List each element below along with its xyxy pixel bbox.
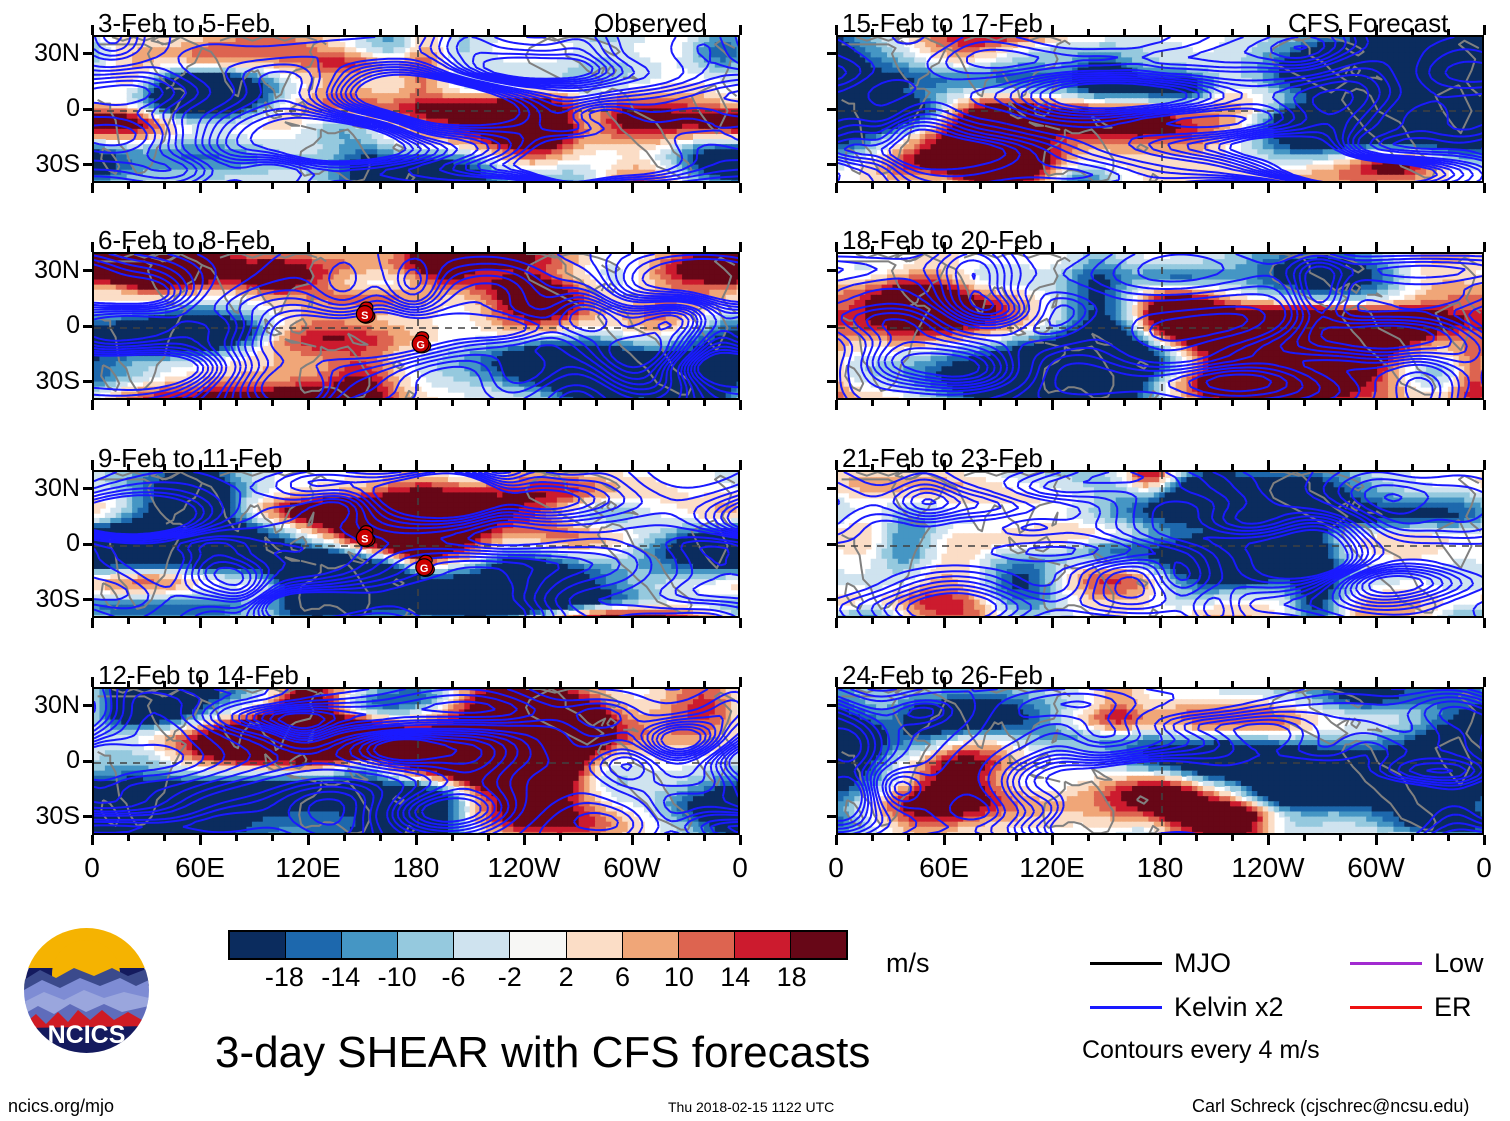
x-tick-mark xyxy=(667,400,670,406)
x-tick-mark xyxy=(979,618,982,624)
x-tick-mark xyxy=(1051,242,1054,252)
x-tick-mark xyxy=(1195,183,1198,189)
x-tick-mark xyxy=(1483,618,1486,628)
x-tick-mark xyxy=(979,835,982,841)
colorbar-swatch-3 xyxy=(398,932,454,958)
y-tick-mark xyxy=(827,163,838,166)
map-panel-fcst-4[interactable] xyxy=(836,687,1484,835)
x-tick-mark xyxy=(1339,400,1342,406)
x-tick-mark xyxy=(1195,29,1198,35)
colorbar-unit-label: m/s xyxy=(886,948,930,979)
y-tick-mark xyxy=(827,108,838,111)
x-tick-mark xyxy=(163,618,166,624)
x-tick-mark xyxy=(703,835,706,841)
y-tick-mark xyxy=(83,52,94,55)
y-tick-label-obs-4-1: 0 xyxy=(0,746,80,775)
x-tick-mark xyxy=(595,835,598,841)
x-tick-mark xyxy=(667,29,670,35)
x-tick-mark xyxy=(343,29,346,35)
x-tick-mark xyxy=(667,618,670,624)
x-tick-mark xyxy=(1447,681,1450,687)
x-tick-mark xyxy=(451,29,454,35)
x-tick-mark xyxy=(739,25,742,35)
x-tick-mark xyxy=(343,400,346,406)
x-tick-mark xyxy=(91,460,94,470)
x-axis-label-col1-0: 0 xyxy=(781,852,891,884)
map-panel-obs-3[interactable]: SG xyxy=(92,470,740,618)
x-tick-mark xyxy=(595,29,598,35)
x-tick-mark xyxy=(559,681,562,687)
x-tick-mark xyxy=(739,835,742,845)
x-tick-mark xyxy=(703,29,706,35)
x-tick-mark xyxy=(1411,835,1414,841)
x-tick-mark xyxy=(1195,246,1198,252)
x-tick-mark xyxy=(1087,183,1090,189)
x-tick-mark xyxy=(1411,246,1414,252)
y-tick-mark xyxy=(827,543,838,546)
x-tick-mark xyxy=(343,183,346,189)
y-tick-mark xyxy=(83,760,94,763)
x-tick-mark xyxy=(943,618,946,628)
x-tick-mark xyxy=(943,460,946,470)
x-tick-mark xyxy=(979,183,982,189)
map-panel-fcst-1[interactable] xyxy=(836,35,1484,183)
x-tick-mark xyxy=(667,183,670,189)
x-tick-mark xyxy=(415,242,418,252)
x-tick-mark xyxy=(1375,835,1378,845)
y-tick-mark xyxy=(83,108,94,111)
x-tick-mark xyxy=(1231,400,1234,406)
x-tick-mark xyxy=(271,29,274,35)
x-tick-mark xyxy=(1159,618,1162,628)
y-tick-mark xyxy=(827,487,838,490)
footer-left[interactable]: ncics.org/mjo xyxy=(8,1096,114,1117)
x-tick-mark xyxy=(739,460,742,470)
x-tick-mark xyxy=(1015,681,1018,687)
colorbar-swatch-9 xyxy=(735,932,791,958)
y-tick-mark xyxy=(827,815,838,818)
x-axis-label-col1-2: 120E xyxy=(997,852,1107,884)
x-tick-mark xyxy=(1303,183,1306,189)
x-tick-mark xyxy=(835,618,838,628)
x-tick-mark xyxy=(235,835,238,841)
x-tick-mark xyxy=(559,618,562,624)
x-tick-mark xyxy=(943,242,946,252)
x-tick-mark xyxy=(307,25,310,35)
x-tick-mark xyxy=(1447,618,1450,624)
x-tick-mark xyxy=(979,29,982,35)
x-tick-mark xyxy=(523,460,526,470)
x-tick-mark xyxy=(1267,677,1270,687)
x-tick-mark xyxy=(1051,677,1054,687)
x-tick-mark xyxy=(1375,242,1378,252)
y-tick-mark xyxy=(83,269,94,272)
x-tick-mark xyxy=(667,464,670,470)
x-tick-mark xyxy=(379,246,382,252)
x-tick-mark xyxy=(559,400,562,406)
legend-contour-note: Contours every 4 m/s xyxy=(1082,1036,1320,1065)
x-tick-mark xyxy=(907,618,910,624)
x-tick-mark xyxy=(1159,242,1162,252)
x-tick-mark xyxy=(451,464,454,470)
x-tick-mark xyxy=(631,618,634,628)
x-tick-mark xyxy=(1483,460,1486,470)
x-tick-mark xyxy=(1159,460,1162,470)
x-tick-mark xyxy=(379,29,382,35)
y-tick-label-obs-3-0: 30N xyxy=(0,474,80,503)
x-tick-mark xyxy=(703,618,706,624)
x-tick-mark xyxy=(979,681,982,687)
x-tick-mark xyxy=(1483,400,1486,410)
x-tick-mark xyxy=(1447,246,1450,252)
x-tick-mark xyxy=(163,464,166,470)
colorbar-swatch-5 xyxy=(510,932,566,958)
x-tick-mark xyxy=(127,618,130,624)
x-tick-mark xyxy=(235,681,238,687)
x-tick-mark xyxy=(199,400,202,410)
y-tick-label-obs-2-0: 30N xyxy=(0,256,80,285)
x-tick-mark xyxy=(1051,25,1054,35)
x-tick-mark xyxy=(91,242,94,252)
x-tick-mark xyxy=(1087,835,1090,841)
x-tick-mark xyxy=(307,183,310,193)
x-axis-label-col1-5: 60W xyxy=(1321,852,1431,884)
x-tick-mark xyxy=(1339,464,1342,470)
x-tick-mark xyxy=(379,618,382,624)
x-tick-mark xyxy=(523,242,526,252)
x-tick-mark xyxy=(235,400,238,406)
x-tick-mark xyxy=(1015,29,1018,35)
x-tick-mark xyxy=(91,400,94,410)
legend-label-kelvin-x2: Kelvin x2 xyxy=(1174,992,1284,1023)
x-tick-mark xyxy=(163,29,166,35)
x-tick-mark xyxy=(871,618,874,624)
x-tick-mark xyxy=(595,618,598,624)
legend-line-er xyxy=(1350,1006,1422,1009)
x-tick-mark xyxy=(127,183,130,189)
x-tick-mark xyxy=(1303,681,1306,687)
x-tick-mark xyxy=(1087,464,1090,470)
x-tick-mark xyxy=(1195,400,1198,406)
x-tick-mark xyxy=(379,183,382,189)
x-tick-mark xyxy=(307,242,310,252)
x-tick-mark xyxy=(271,618,274,624)
x-tick-mark xyxy=(1267,242,1270,252)
x-tick-mark xyxy=(523,677,526,687)
map-panel-obs-1[interactable] xyxy=(92,35,740,183)
x-tick-mark xyxy=(127,400,130,406)
x-tick-mark xyxy=(523,183,526,193)
x-tick-mark xyxy=(91,835,94,845)
x-tick-mark xyxy=(415,400,418,410)
x-tick-mark xyxy=(1195,618,1198,624)
y-tick-mark xyxy=(83,380,94,383)
x-tick-mark xyxy=(943,677,946,687)
x-tick-mark xyxy=(1447,464,1450,470)
x-tick-mark xyxy=(907,464,910,470)
x-tick-mark xyxy=(523,400,526,410)
x-tick-mark xyxy=(235,464,238,470)
x-tick-mark xyxy=(559,183,562,189)
x-tick-mark xyxy=(739,183,742,193)
x-tick-mark xyxy=(343,246,346,252)
x-tick-mark xyxy=(907,29,910,35)
x-tick-mark xyxy=(1123,618,1126,624)
x-tick-mark xyxy=(343,464,346,470)
x-tick-mark xyxy=(1087,400,1090,406)
x-tick-mark xyxy=(1231,835,1234,841)
y-tick-mark xyxy=(827,380,838,383)
x-tick-mark xyxy=(1447,835,1450,841)
x-tick-mark xyxy=(595,681,598,687)
x-tick-mark xyxy=(631,460,634,470)
x-tick-mark xyxy=(739,618,742,628)
x-tick-mark xyxy=(235,246,238,252)
x-tick-mark xyxy=(703,183,706,189)
colorbar-swatch-2 xyxy=(342,932,398,958)
x-tick-mark xyxy=(703,681,706,687)
x-tick-mark xyxy=(451,681,454,687)
x-tick-mark xyxy=(415,618,418,628)
x-tick-mark xyxy=(1447,29,1450,35)
x-tick-mark xyxy=(1231,246,1234,252)
x-tick-mark xyxy=(271,183,274,189)
x-axis-label-col0-6: 0 xyxy=(685,852,795,884)
x-tick-mark xyxy=(1411,681,1414,687)
map-panel-obs-4[interactable] xyxy=(92,687,740,835)
footer-right[interactable]: Carl Schreck (cjschrec@ncsu.edu) xyxy=(1192,1096,1469,1117)
x-tick-mark xyxy=(871,246,874,252)
x-tick-mark xyxy=(1411,183,1414,189)
x-tick-mark xyxy=(235,618,238,624)
y-tick-label-obs-3-1: 0 xyxy=(0,529,80,558)
y-tick-label-obs-2-2: 30S xyxy=(0,367,80,396)
x-tick-mark xyxy=(1123,464,1126,470)
x-tick-mark xyxy=(1303,618,1306,624)
ncics-logo: NCICS xyxy=(24,928,149,1053)
colorbar-swatch-6 xyxy=(567,932,623,958)
x-tick-mark xyxy=(451,835,454,841)
x-tick-mark xyxy=(559,835,562,841)
x-tick-mark xyxy=(271,400,274,406)
x-tick-mark xyxy=(415,835,418,845)
colorbar-swatch-7 xyxy=(623,932,679,958)
y-tick-mark xyxy=(83,325,94,328)
x-tick-mark xyxy=(91,618,94,628)
x-tick-mark xyxy=(1159,25,1162,35)
y-tick-label-obs-4-2: 30S xyxy=(0,802,80,831)
y-tick-mark xyxy=(83,598,94,601)
x-tick-mark xyxy=(1375,618,1378,628)
x-tick-mark xyxy=(271,246,274,252)
y-tick-mark xyxy=(83,163,94,166)
x-tick-mark xyxy=(415,183,418,193)
colorbar xyxy=(228,930,848,960)
x-tick-mark xyxy=(835,183,838,193)
x-axis-label-col0-5: 60W xyxy=(577,852,687,884)
x-tick-mark xyxy=(163,246,166,252)
x-tick-mark xyxy=(199,618,202,628)
x-tick-mark xyxy=(631,400,634,410)
x-tick-mark xyxy=(703,400,706,406)
x-tick-mark xyxy=(487,835,490,841)
x-tick-mark xyxy=(1159,183,1162,193)
x-tick-mark xyxy=(379,400,382,406)
x-tick-mark xyxy=(559,246,562,252)
x-tick-mark xyxy=(163,681,166,687)
x-tick-mark xyxy=(91,25,94,35)
x-tick-mark xyxy=(307,400,310,410)
x-tick-mark xyxy=(1159,835,1162,845)
legend-line-kelvin-x2 xyxy=(1090,1006,1162,1009)
x-tick-mark xyxy=(343,681,346,687)
x-tick-mark xyxy=(1195,835,1198,841)
x-tick-mark xyxy=(1015,400,1018,406)
x-tick-mark xyxy=(739,400,742,410)
x-tick-mark xyxy=(127,681,130,687)
y-tick-mark xyxy=(827,52,838,55)
x-tick-mark xyxy=(451,400,454,406)
y-tick-mark xyxy=(827,704,838,707)
x-tick-mark xyxy=(451,246,454,252)
x-axis-label-col1-4: 120W xyxy=(1213,852,1323,884)
x-tick-mark xyxy=(631,183,634,193)
x-tick-mark xyxy=(1123,400,1126,406)
x-tick-mark xyxy=(1375,183,1378,193)
x-tick-mark xyxy=(1375,400,1378,410)
x-axis-label-col1-3: 180 xyxy=(1105,852,1215,884)
x-axis-label-col0-2: 120E xyxy=(253,852,363,884)
x-tick-mark xyxy=(1123,246,1126,252)
x-tick-mark xyxy=(235,183,238,189)
x-tick-mark xyxy=(127,246,130,252)
x-tick-mark xyxy=(415,677,418,687)
x-tick-mark xyxy=(871,681,874,687)
x-tick-mark xyxy=(1447,400,1450,406)
map-panel-fcst-3[interactable] xyxy=(836,470,1484,618)
x-tick-mark xyxy=(871,183,874,189)
map-panel-fcst-2[interactable] xyxy=(836,252,1484,400)
x-tick-mark xyxy=(979,464,982,470)
y-tick-mark xyxy=(827,598,838,601)
x-tick-mark xyxy=(451,618,454,624)
x-tick-mark xyxy=(631,25,634,35)
y-tick-mark xyxy=(83,815,94,818)
legend-line-low xyxy=(1350,962,1422,965)
x-tick-mark xyxy=(1087,618,1090,624)
x-tick-mark xyxy=(1339,246,1342,252)
x-tick-mark xyxy=(523,618,526,628)
x-tick-mark xyxy=(1087,29,1090,35)
x-tick-mark xyxy=(1411,464,1414,470)
colorbar-swatch-0 xyxy=(230,932,286,958)
x-tick-mark xyxy=(907,835,910,841)
x-tick-mark xyxy=(91,677,94,687)
x-tick-mark xyxy=(523,835,526,845)
y-tick-mark xyxy=(827,760,838,763)
x-tick-mark xyxy=(835,460,838,470)
x-tick-mark xyxy=(943,183,946,193)
x-tick-mark xyxy=(1411,29,1414,35)
x-tick-mark xyxy=(1051,835,1054,845)
x-tick-mark xyxy=(907,246,910,252)
x-tick-mark xyxy=(1375,460,1378,470)
x-tick-mark xyxy=(487,464,490,470)
x-tick-mark xyxy=(703,246,706,252)
x-tick-mark xyxy=(1231,681,1234,687)
x-tick-mark xyxy=(1303,400,1306,406)
x-tick-mark xyxy=(199,183,202,193)
x-tick-mark xyxy=(1339,618,1342,624)
x-tick-mark xyxy=(1303,464,1306,470)
x-tick-mark xyxy=(1015,183,1018,189)
x-tick-mark xyxy=(943,25,946,35)
x-tick-mark xyxy=(343,618,346,624)
legend-label-mjo: MJO xyxy=(1174,948,1231,979)
x-tick-mark xyxy=(835,242,838,252)
y-tick-mark xyxy=(83,487,94,490)
x-tick-mark xyxy=(1483,835,1486,845)
x-tick-mark xyxy=(1015,618,1018,624)
x-tick-mark xyxy=(1159,677,1162,687)
x-tick-mark xyxy=(631,835,634,845)
legend-label-er: ER xyxy=(1434,992,1472,1023)
x-tick-mark xyxy=(835,25,838,35)
x-tick-mark xyxy=(487,618,490,624)
map-panel-obs-2[interactable]: SG xyxy=(92,252,740,400)
x-tick-mark xyxy=(871,400,874,406)
y-tick-mark xyxy=(827,325,838,328)
x-tick-mark xyxy=(595,400,598,406)
x-tick-mark xyxy=(235,29,238,35)
x-tick-mark xyxy=(1195,681,1198,687)
x-tick-mark xyxy=(127,29,130,35)
x-tick-mark xyxy=(631,677,634,687)
x-tick-mark xyxy=(199,460,202,470)
x-tick-mark xyxy=(199,677,202,687)
x-tick-mark xyxy=(595,246,598,252)
x-tick-mark xyxy=(667,681,670,687)
y-tick-mark xyxy=(83,543,94,546)
x-tick-mark xyxy=(1447,183,1450,189)
main-title: 3-day SHEAR with CFS forecasts xyxy=(215,1028,870,1078)
x-tick-mark xyxy=(667,835,670,841)
x-tick-mark xyxy=(1267,25,1270,35)
colorbar-swatch-4 xyxy=(454,932,510,958)
x-tick-mark xyxy=(487,400,490,406)
x-tick-mark xyxy=(835,400,838,410)
x-tick-mark xyxy=(1483,183,1486,193)
x-tick-mark xyxy=(979,246,982,252)
x-tick-mark xyxy=(271,835,274,841)
x-tick-mark xyxy=(1411,400,1414,406)
x-tick-mark xyxy=(487,246,490,252)
x-tick-mark xyxy=(379,464,382,470)
x-tick-mark xyxy=(1051,460,1054,470)
y-tick-label-obs-1-0: 30N xyxy=(0,39,80,68)
x-tick-mark xyxy=(595,464,598,470)
x-tick-mark xyxy=(1303,246,1306,252)
x-tick-mark xyxy=(271,681,274,687)
x-tick-mark xyxy=(415,460,418,470)
colorbar-tick-label-9: 18 xyxy=(758,962,826,993)
x-axis-label-col0-3: 180 xyxy=(361,852,471,884)
x-tick-mark xyxy=(871,835,874,841)
x-tick-mark xyxy=(1015,464,1018,470)
x-tick-mark xyxy=(631,242,634,252)
x-tick-mark xyxy=(1051,183,1054,193)
x-axis-label-col1-6: 0 xyxy=(1429,852,1510,884)
